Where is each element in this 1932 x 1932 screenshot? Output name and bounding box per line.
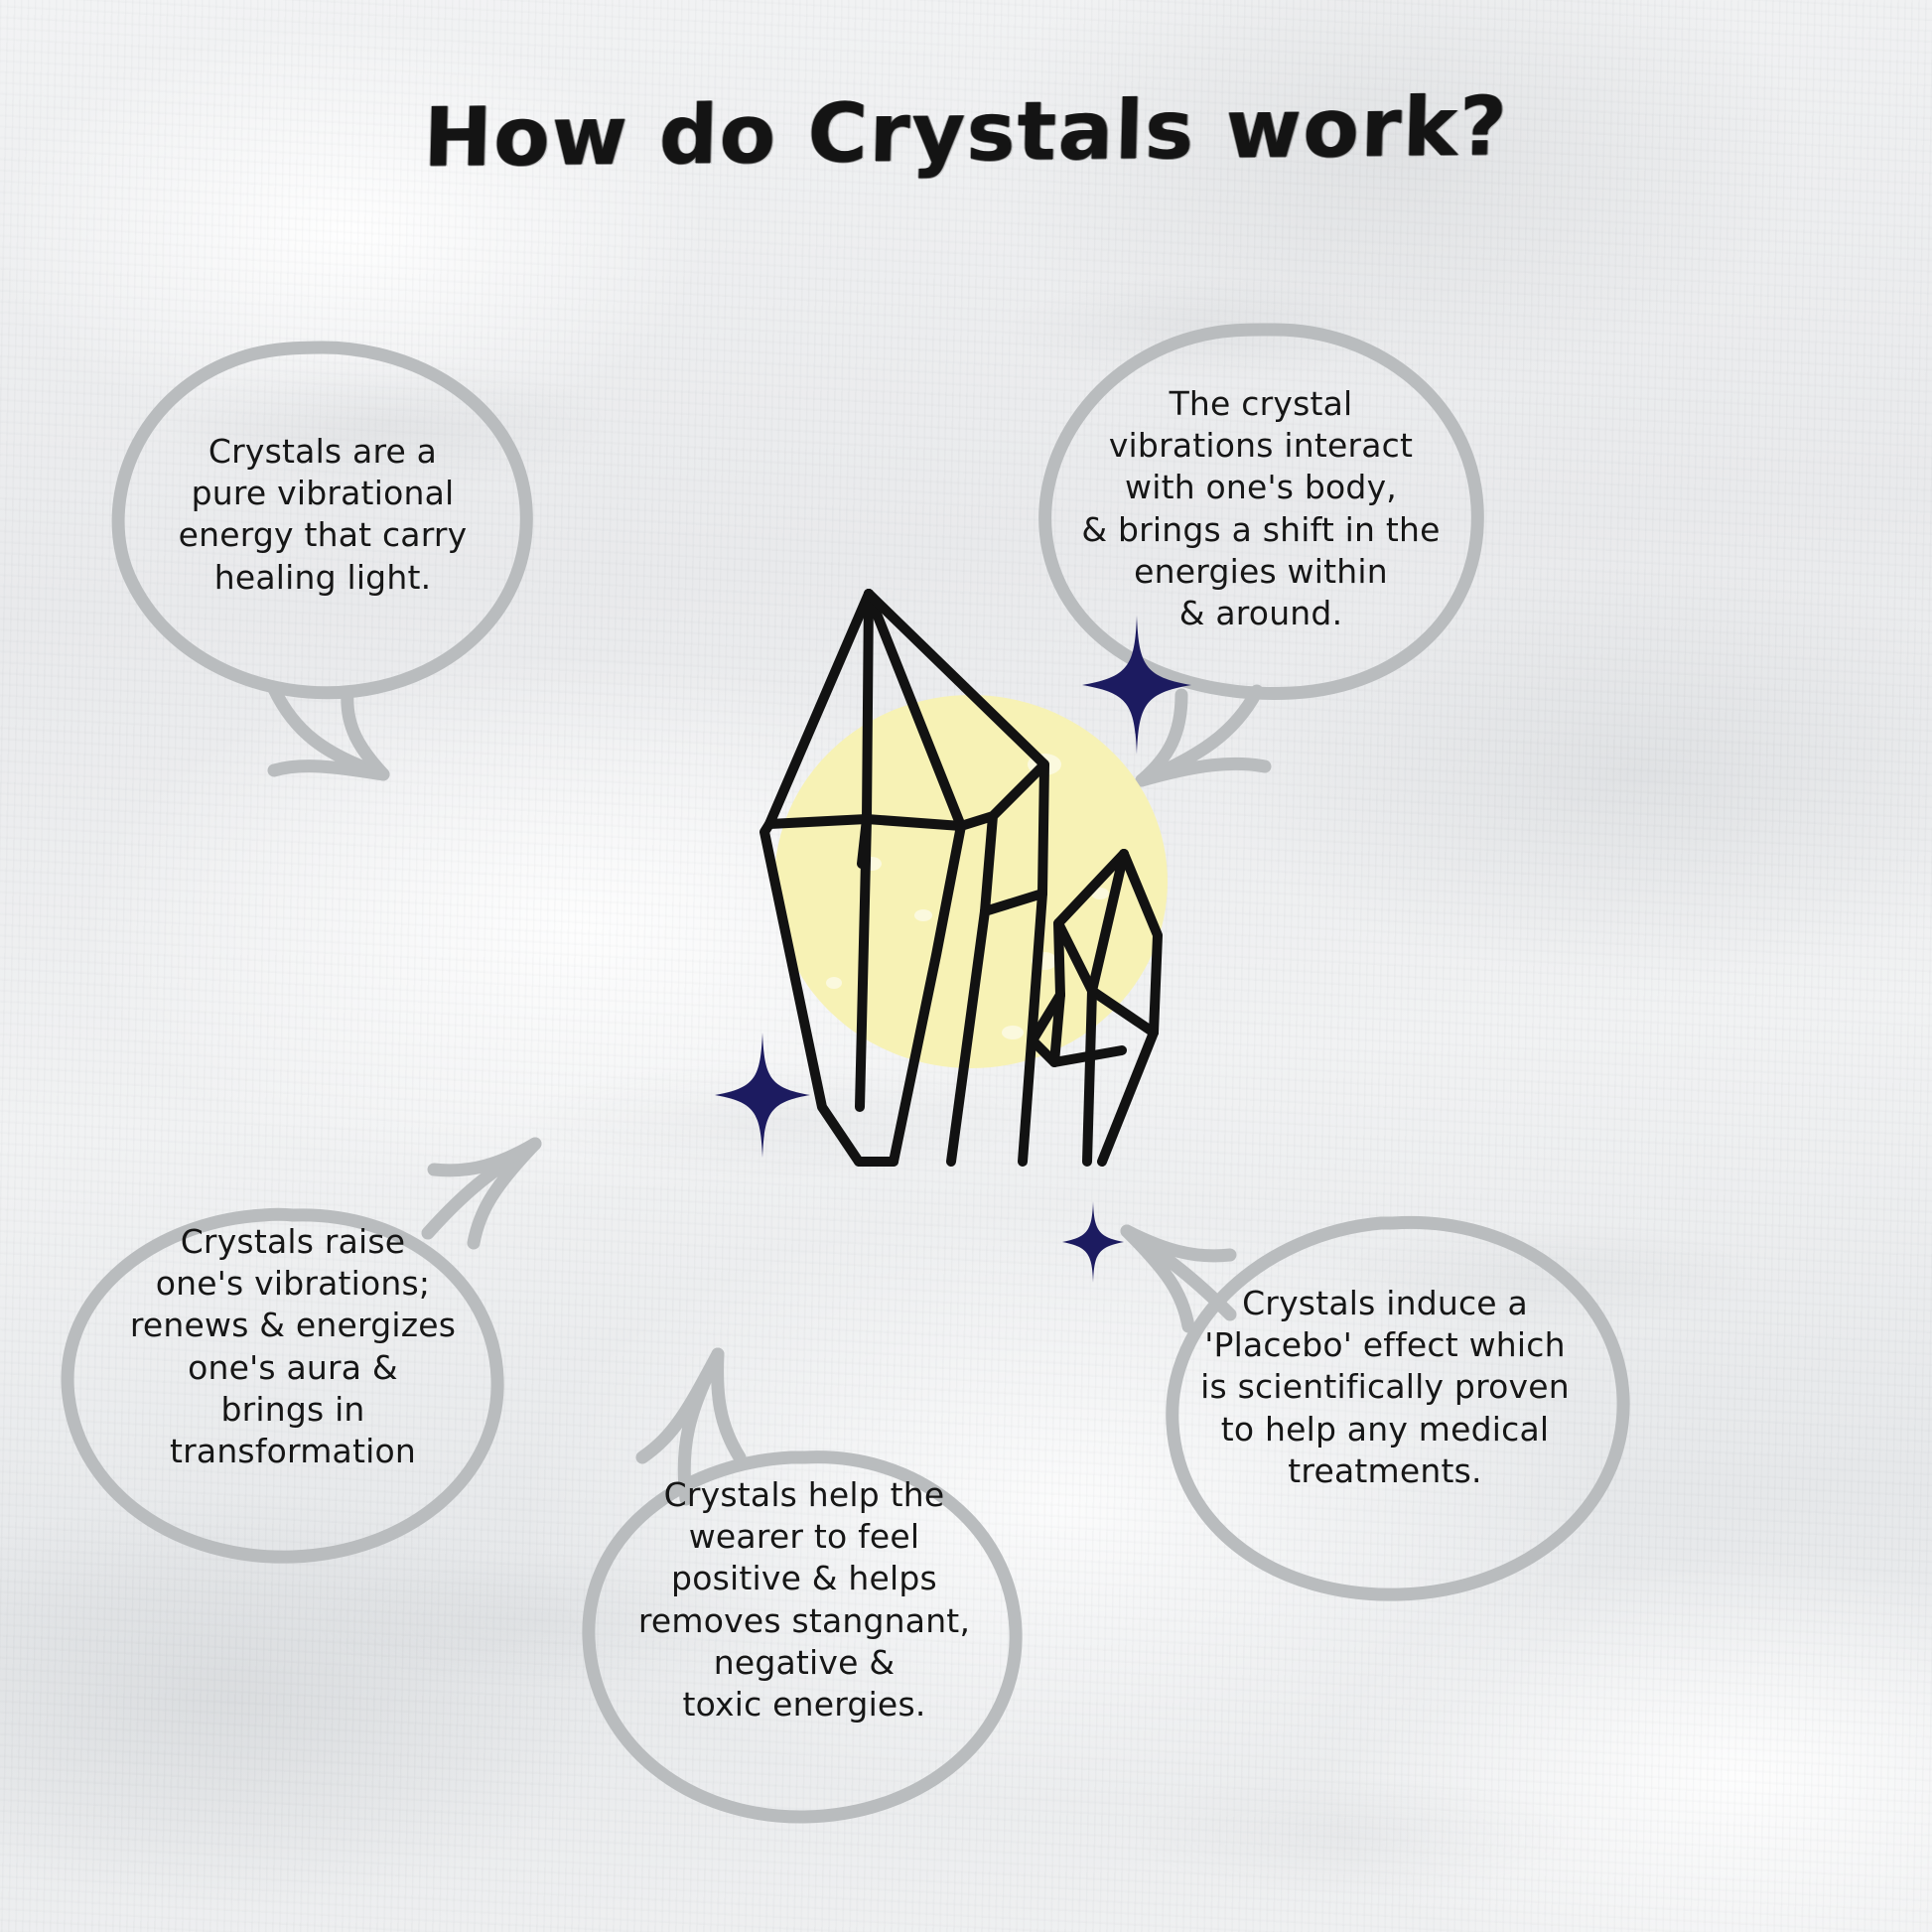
sparkle-top-right-icon xyxy=(1082,616,1191,755)
bubble-crystals-help-wearer-feel-positive: Crystals help the wearer to feel positiv… xyxy=(571,1340,1037,1827)
bubble-text: Crystals raise one's vibrations; renews … xyxy=(45,1221,541,1472)
sparkle-left-icon xyxy=(715,1033,810,1158)
sparkle-bottom-right-icon xyxy=(1062,1201,1124,1283)
bubble-crystals-induce-placebo-effect: Crystals induce a 'Placebo' effect which… xyxy=(1127,1132,1643,1608)
bubble-text: Crystals induce a 'Placebo' effect which… xyxy=(1127,1283,1643,1492)
bubble-text: Crystals are a pure vibrational energy t… xyxy=(99,431,546,599)
bubble-crystals-pure-vibrational-energy: Crystals are a pure vibrational energy t… xyxy=(99,334,546,790)
page-title: How do Crystals work? xyxy=(0,75,1932,190)
bubble-text: Crystals help the wearer to feel positiv… xyxy=(571,1474,1037,1725)
bubble-crystals-raise-vibrations: Crystals raise one's vibrations; renews … xyxy=(45,1112,541,1569)
infographic-canvas: How do Crystals work? xyxy=(0,0,1932,1932)
